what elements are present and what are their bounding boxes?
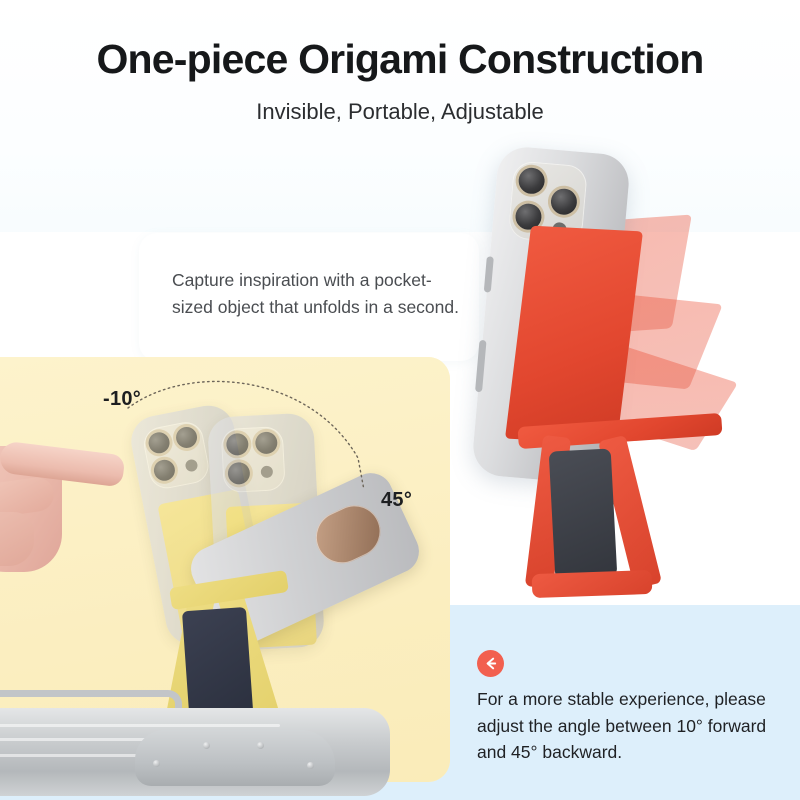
camera-lens-icon	[518, 167, 546, 195]
right-product-scene	[440, 120, 800, 640]
product-feature-banner: One-piece Origami Construction Invisible…	[0, 0, 800, 800]
camera-lens-icon	[226, 433, 249, 456]
arrow-left-icon	[477, 650, 504, 677]
info-card-text: Capture inspiration with a pocket-sized …	[172, 267, 462, 321]
hand-pointing	[0, 424, 130, 574]
rivet	[153, 760, 160, 767]
camera-flash-icon	[261, 466, 274, 479]
magsafe-ring-icon	[307, 497, 389, 572]
phone-volume-button	[475, 340, 487, 392]
phone-side-button	[484, 256, 494, 292]
camera-flash-icon	[184, 458, 198, 472]
stability-note-text: For a more stable experience, please adj…	[477, 686, 787, 766]
camera-island-icon	[221, 426, 286, 493]
camera-lens-icon	[152, 458, 177, 483]
suitcase-ridge	[0, 724, 280, 727]
camera-lens-icon	[174, 425, 199, 450]
red-kickstand-inner-panel	[549, 448, 618, 579]
info-card: Capture inspiration with a pocket-sized …	[139, 233, 479, 361]
page-title: One-piece Origami Construction	[0, 36, 800, 83]
camera-lens-icon	[147, 430, 172, 455]
red-kickstand-foot	[532, 570, 653, 598]
rivet	[257, 742, 264, 749]
camera-lens-icon	[227, 462, 250, 485]
angle-min-label: -10°	[103, 388, 141, 411]
rivet	[307, 762, 314, 769]
camera-lens-icon	[550, 188, 578, 216]
suitcase-corner-guard	[135, 730, 335, 786]
rivet	[203, 742, 210, 749]
camera-island-icon	[141, 419, 212, 491]
angle-max-label: 45°	[381, 489, 412, 512]
camera-lens-icon	[255, 431, 278, 454]
aluminum-suitcase	[0, 690, 410, 800]
